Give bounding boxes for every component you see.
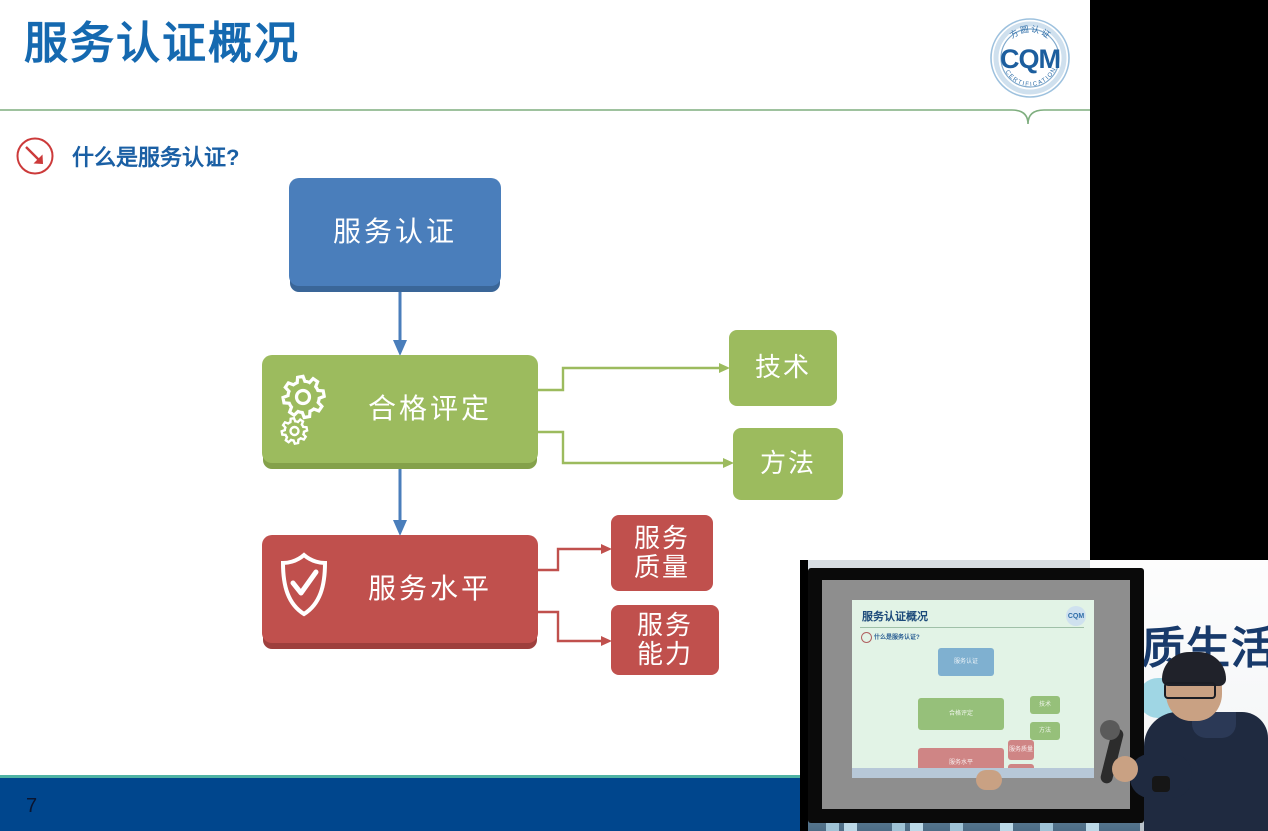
arrow-down-right-circle-icon xyxy=(14,135,56,177)
flow-leaf-label: 技术 xyxy=(755,353,811,382)
speaker-hand xyxy=(1112,756,1138,782)
page-number: 7 xyxy=(26,795,37,818)
projected-node-conformity: 合格评定 xyxy=(918,698,1004,730)
flow-node-label: 服务水平 xyxy=(276,573,538,605)
flow-node-label: 合格评定 xyxy=(276,393,538,425)
flow-leaf-technology[interactable]: 技术 xyxy=(729,330,837,406)
speaker-video-overlay[interactable]: 品质生活 服务认证概况 CQM 什么是服务认证? 服务认证 合格评定 服务水平 … xyxy=(800,560,1268,831)
glasses-icon xyxy=(1164,682,1216,699)
microphone-head xyxy=(1100,720,1120,740)
flow-node-conformity-assessment[interactable]: 合格评定 xyxy=(262,355,538,463)
projected-slide-title: 服务认证概况 xyxy=(862,608,928,624)
wristwatch xyxy=(1152,776,1170,792)
projected-divider xyxy=(860,627,1084,628)
flow-leaf-label: 服务 能力 xyxy=(637,611,693,669)
projected-leaf-technology: 技术 xyxy=(1030,696,1060,714)
svg-text:CQM: CQM xyxy=(1000,44,1060,74)
header-divider xyxy=(0,104,1090,130)
flow-leaf-service-quality[interactable]: 服务 质量 xyxy=(611,515,713,591)
projected-bullet-icon xyxy=(861,632,872,643)
projected-cqm-logo: CQM xyxy=(1066,606,1086,626)
overlay-left-border xyxy=(800,560,808,831)
flow-leaf-service-capacity[interactable]: 服务 能力 xyxy=(611,605,719,675)
projected-section-heading: 什么是服务认证? xyxy=(874,632,920,641)
flow-node-service-certification[interactable]: 服务认证 xyxy=(289,178,501,286)
section-heading-label: 什么是服务认证? xyxy=(72,140,239,172)
projected-slide: 服务认证概况 CQM 什么是服务认证? 服务认证 合格评定 服务水平 技术 方法… xyxy=(852,600,1094,778)
projected-slide-footer xyxy=(852,768,1094,778)
projection-surface: 服务认证概况 CQM 什么是服务认证? 服务认证 合格评定 服务水平 技术 方法… xyxy=(822,580,1130,809)
speaker-pointing-hand xyxy=(976,770,1002,790)
page-title: 服务认证概况 xyxy=(24,22,300,66)
section-heading-row: 什么是服务认证? xyxy=(14,135,239,177)
flow-node-label: 服务认证 xyxy=(289,216,501,248)
flow-leaf-label: 方法 xyxy=(760,449,816,478)
projected-node-root: 服务认证 xyxy=(938,648,994,676)
flow-leaf-label: 服务 质量 xyxy=(634,524,690,582)
flow-leaf-method[interactable]: 方法 xyxy=(733,428,843,500)
cqm-logo: 方圆认证 CERTIFICATION CQM xyxy=(988,16,1072,100)
projection-screen: 服务认证概况 CQM 什么是服务认证? 服务认证 合格评定 服务水平 技术 方法… xyxy=(808,568,1144,823)
projected-leaf-method: 方法 xyxy=(1030,722,1060,740)
flow-node-service-level[interactable]: 服务水平 xyxy=(262,535,538,643)
projected-leaf-quality: 服务质量 xyxy=(1008,740,1034,760)
